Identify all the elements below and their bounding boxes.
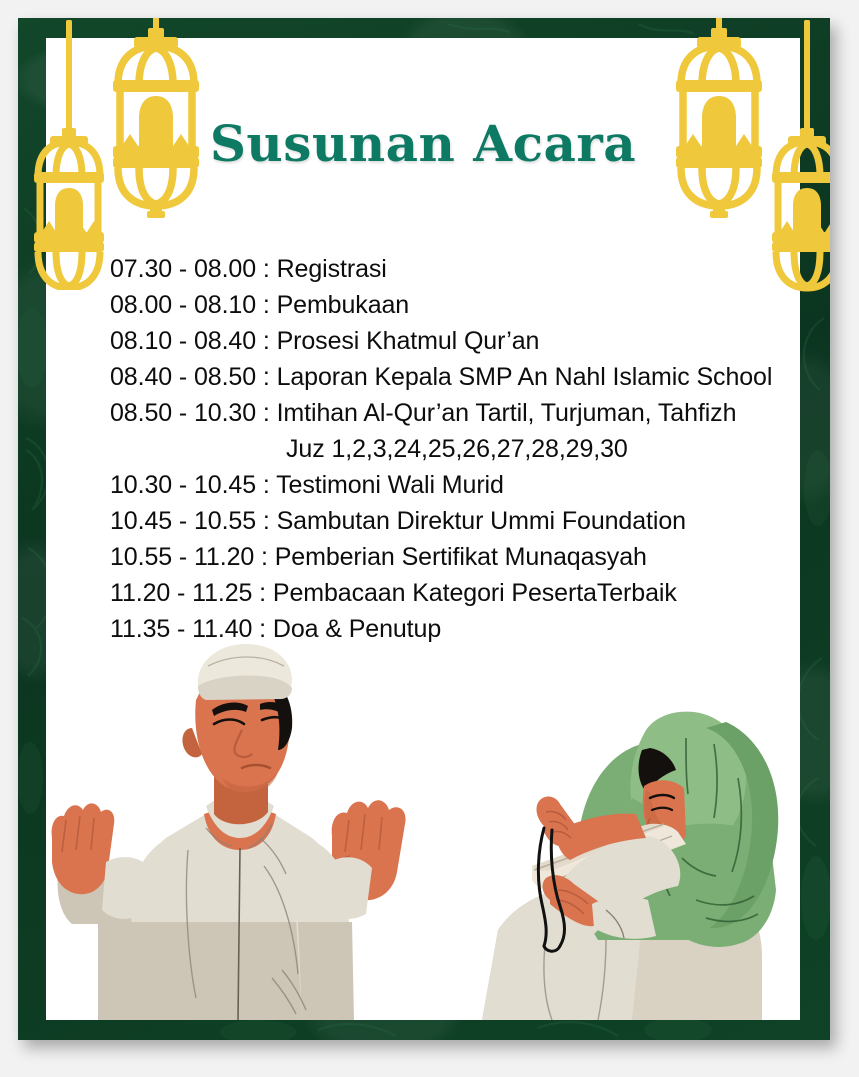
lantern-left-inner: [110, 18, 202, 218]
praying-man-illustration: [52, 644, 406, 1020]
lantern-right-outer: [766, 20, 830, 292]
reading-woman-illustration: [482, 712, 778, 1020]
lantern-left-outer: [28, 20, 110, 290]
lantern-right-inner: [673, 18, 765, 218]
poster-frame: Susunan Acara 07.30 - 08.00 : Registrasi…: [18, 18, 830, 1040]
